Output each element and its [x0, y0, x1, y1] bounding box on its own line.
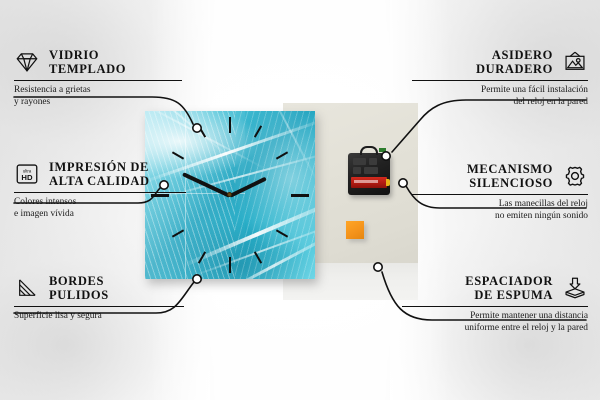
feature-desc-line1: Resistencia a grietas: [14, 85, 182, 97]
feature-title-line1: IMPRESIÓN DE: [49, 160, 150, 174]
feature-desc-line2: uniforme entre el reloj y la pared: [402, 323, 588, 335]
feature-title-line1: MECANISMO: [467, 162, 553, 176]
feature-title-line2: DE ESPUMA: [465, 288, 553, 302]
feature-impresion-alta-calidad: ultra HD IMPRESIÓN DE ALTA CALIDAD Color…: [14, 160, 186, 220]
clock-mechanism: [348, 153, 390, 195]
svg-text:HD: HD: [21, 173, 33, 182]
gear-icon: [562, 164, 588, 188]
feature-rule: [412, 80, 588, 81]
ultra-hd-icon: ultra HD: [14, 162, 40, 186]
feature-desc-line1: Las manecillas del reloj: [412, 199, 588, 211]
feature-rule: [14, 192, 186, 193]
feature-rule: [14, 306, 184, 307]
feature-rule: [14, 80, 182, 81]
feature-desc-line1: Colores intensos: [14, 197, 186, 209]
feature-bordes-pulidos: BORDES PULIDOS Superficie lisa y segura: [14, 274, 184, 323]
feature-title-line1: ESPACIADOR: [465, 274, 553, 288]
feature-desc-line2: no emiten ningún sonido: [412, 211, 588, 223]
arrow-onto-layers-icon: [562, 276, 588, 300]
feature-title-line1: ASIDERO: [476, 48, 553, 62]
feature-rule: [402, 306, 588, 307]
feature-title-line2: SILENCIOSO: [467, 176, 553, 190]
feature-title-line2: PULIDOS: [49, 288, 109, 302]
clock-tick-3: [291, 194, 309, 197]
clock-center-cap: [227, 192, 232, 197]
battery: [351, 177, 387, 188]
feature-title-line2: TEMPLADO: [49, 62, 126, 76]
feature-desc-line2: del reloj en la pared: [412, 97, 588, 109]
feature-title-line2: DURADERO: [476, 62, 553, 76]
hanging-frame-icon: [562, 50, 588, 74]
feature-desc-line1: Permite mantener una distancia: [402, 311, 588, 323]
hanging-hook: [360, 146, 378, 155]
bevel-edge-icon: [14, 276, 40, 300]
feature-desc-line1: Superficie lisa y segura: [14, 311, 184, 323]
foam-spacer: [346, 221, 364, 239]
feature-espaciador-de-espuma: ESPACIADOR DE ESPUMA Permite mantener un…: [402, 274, 588, 334]
feature-title-line1: BORDES: [49, 274, 109, 288]
clock-tick-6: [229, 257, 231, 273]
feature-desc-line2: y rayones: [14, 97, 182, 109]
feature-desc-line1: Permite una fácil instalación: [412, 85, 588, 97]
feature-title-line1: VIDRIO: [49, 48, 126, 62]
diamond-icon: [14, 50, 40, 74]
feature-vidrio-templado: VIDRIO TEMPLADO Resistencia a grietas y …: [14, 48, 182, 108]
feature-mecanismo-silencioso: MECANISMO SILENCIOSO Las manecillas del …: [412, 162, 588, 222]
infographic-canvas: VIDRIO TEMPLADO Resistencia a grietas y …: [0, 0, 600, 400]
feature-rule: [412, 194, 588, 195]
feature-desc-line2: e imagen vívida: [14, 209, 186, 221]
feature-asidero-duradero: ASIDERO DURADERO Permite una fácil insta…: [412, 48, 588, 108]
clock-tick-12: [229, 117, 231, 133]
feature-title-line2: ALTA CALIDAD: [49, 174, 150, 188]
